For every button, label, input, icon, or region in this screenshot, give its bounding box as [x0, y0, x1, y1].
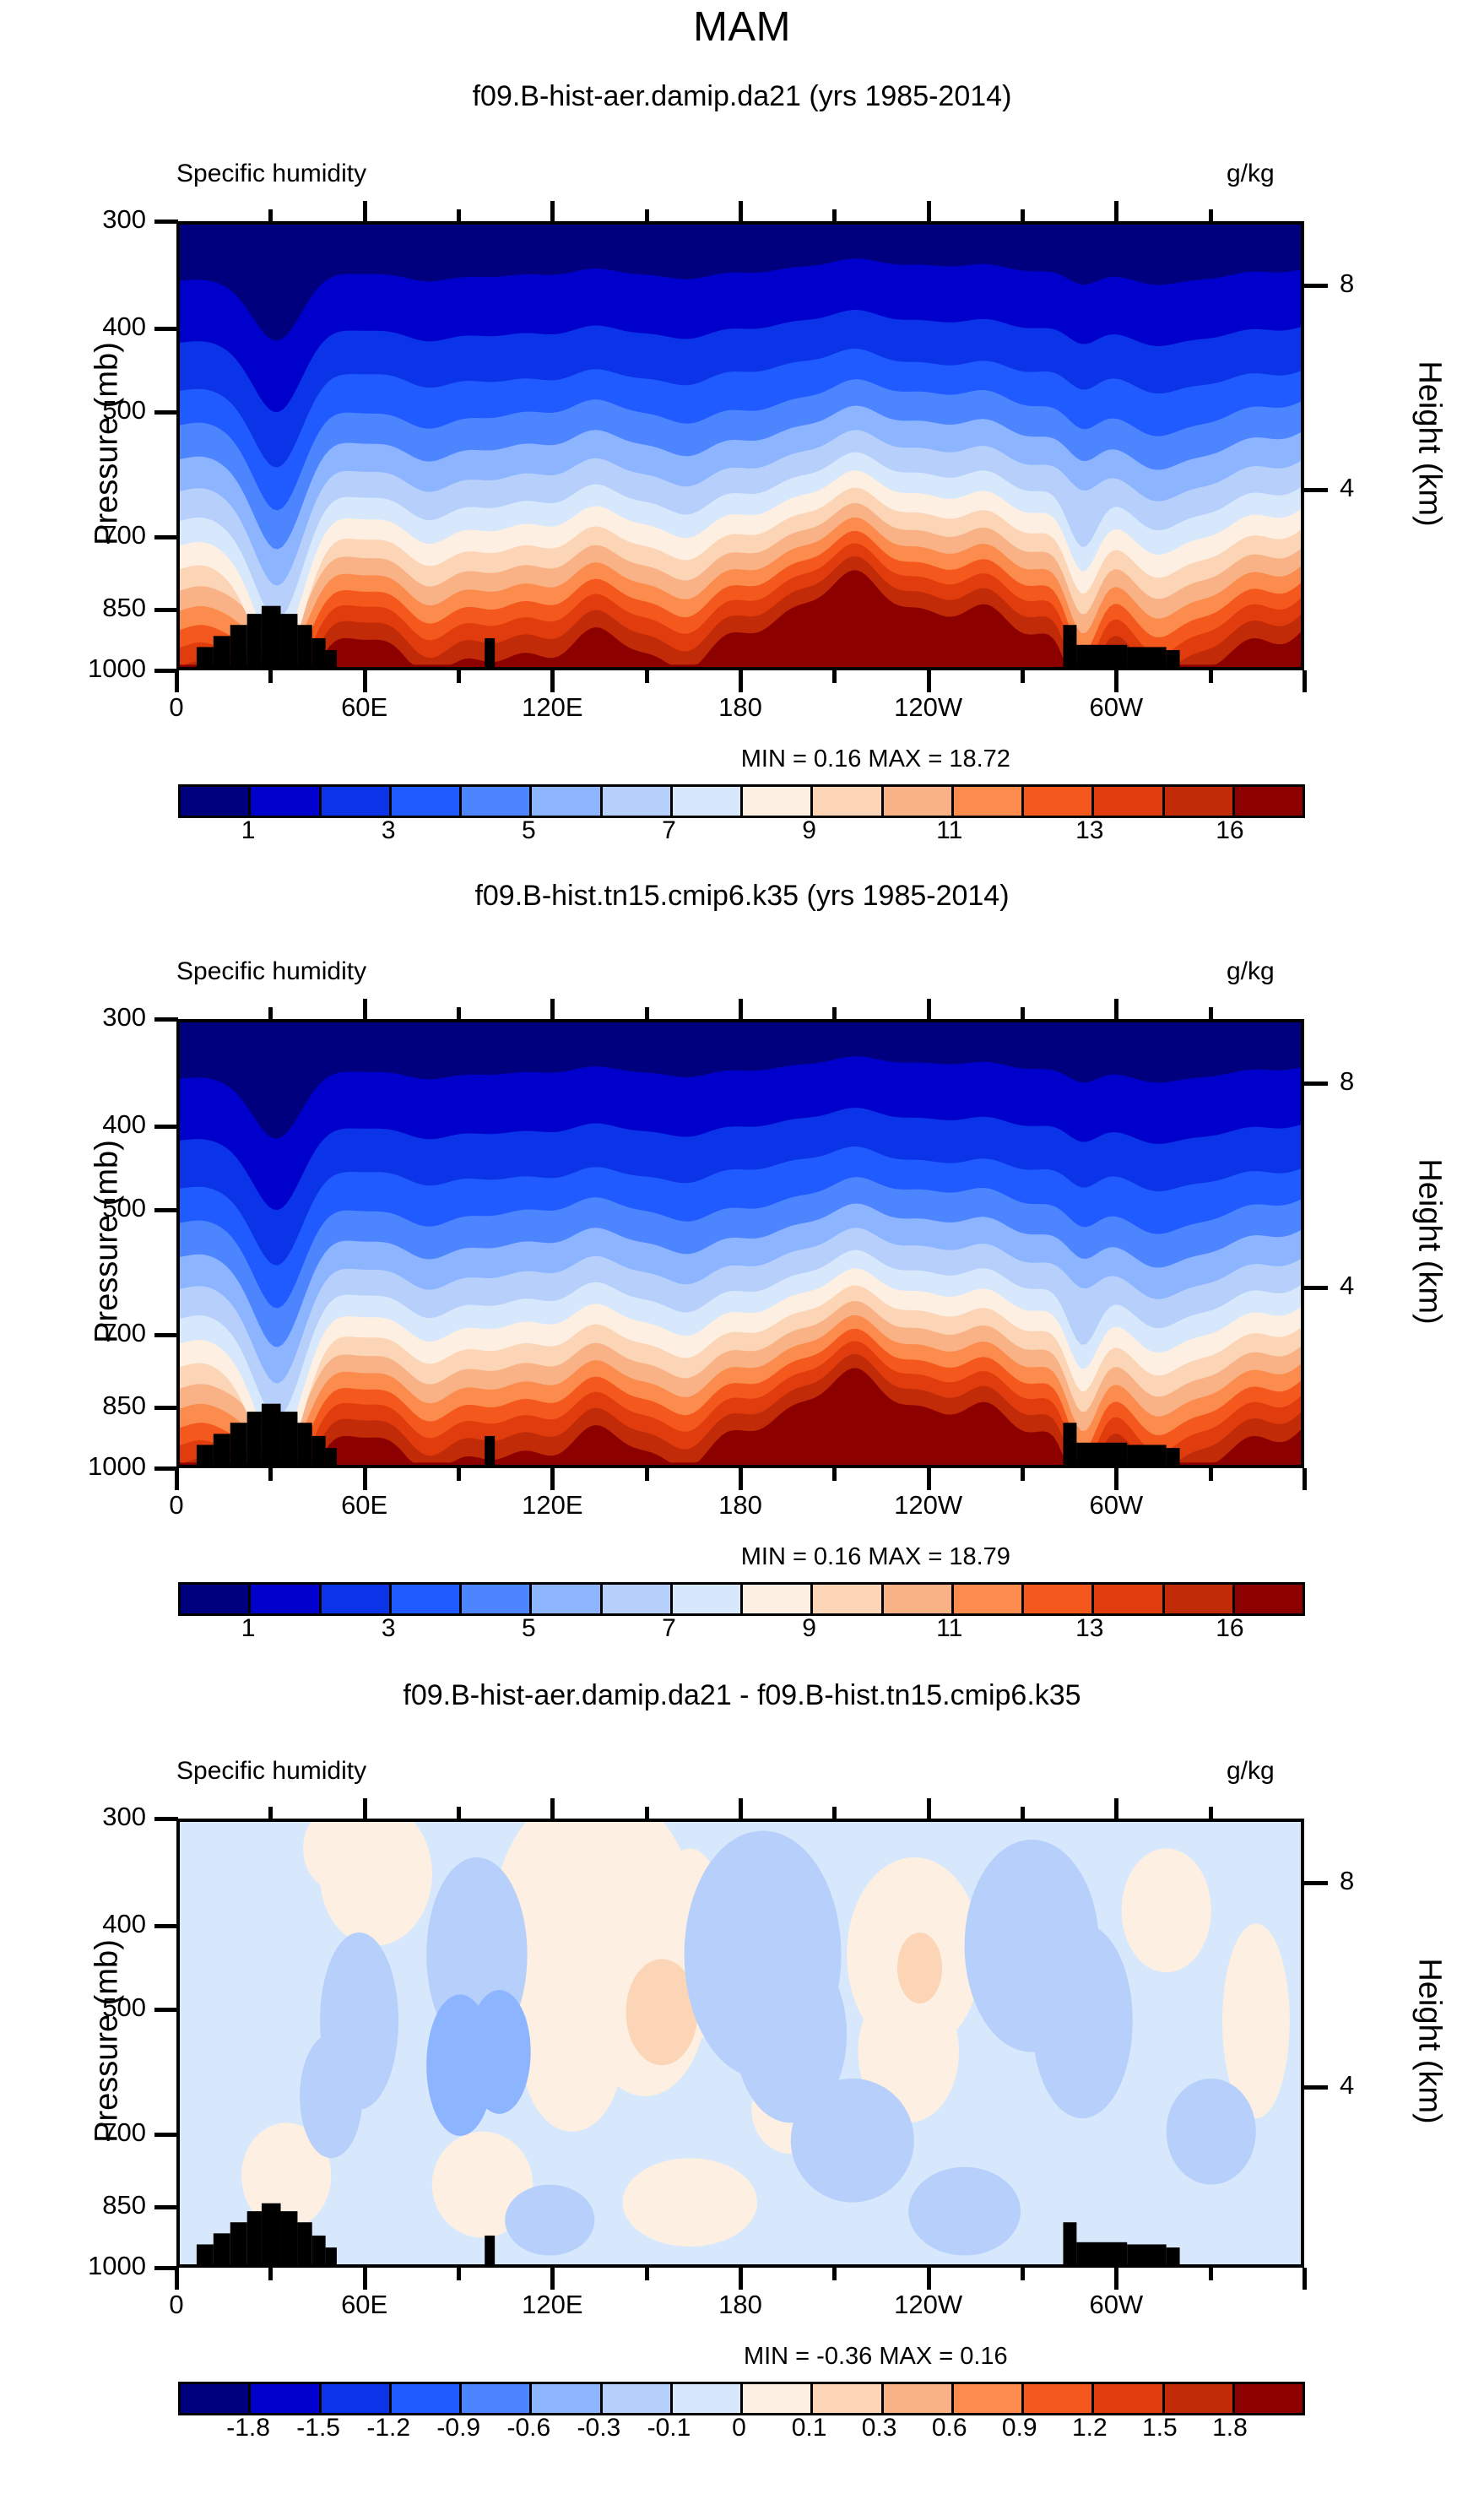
panel-diff-colorbar-label: 0 — [732, 2414, 746, 2442]
panel-diff-colorbar-label: -1.5 — [296, 2414, 340, 2442]
panel-diff-colorbar-label: -0.9 — [436, 2414, 480, 2442]
panel-middle-x-minor-tick — [1209, 1468, 1213, 1481]
panel-top-x-major-tick — [1114, 670, 1118, 692]
panel-top-colorbar-cell — [532, 787, 602, 816]
panel-top-y-tick — [154, 669, 178, 673]
panel-diff-contour-field — [180, 1822, 1301, 2264]
panel-top-colorbar-label: 16 — [1216, 816, 1243, 845]
panel-top-x-tick-label: 0 — [169, 692, 183, 723]
panel-top-colorbar-cell — [181, 787, 251, 816]
panel-middle-x-minor-tick-top — [1209, 1007, 1213, 1019]
panel-diff-colorbar-label: -1.2 — [366, 2414, 410, 2442]
panel-middle-x-minor-tick-top — [645, 1007, 649, 1019]
panel-middle-y-tick — [154, 1333, 178, 1337]
panel-middle-colorbar-cell — [954, 1585, 1024, 1613]
panel-top-minmax-text: MIN = 0.16 MAX = 18.72 — [741, 745, 1010, 773]
panel-diff-colorbar-label: -1.8 — [226, 2414, 270, 2442]
panel-diff-colorbar-label: 1.2 — [1072, 2414, 1108, 2442]
panel-diff-x-minor-tick-top — [1021, 1807, 1025, 1819]
panel-middle-colorbar-cell — [1094, 1585, 1164, 1613]
panel-top-y-axis-label: Pressure (mb) — [89, 169, 126, 719]
panel-diff-colorbar-cell — [322, 2384, 392, 2413]
panel-middle-y-tick — [154, 1406, 178, 1410]
panel-top: f09.B-hist-aer.damip.da21 (yrs 1985-2014… — [0, 0, 1484, 2510]
panel-middle-colorbar-label: 1 — [241, 1614, 256, 1643]
panel-diff: f09.B-hist-aer.damip.da21 - f09.B-hist.t… — [0, 0, 1484, 2510]
panel-top-x-major-tick — [739, 670, 743, 692]
panel-middle-plot-area — [176, 1019, 1304, 1468]
panel-middle: f09.B-hist.tn15.cmip6.k35 (yrs 1985-2014… — [0, 0, 1484, 2510]
panel-top-y-tick — [154, 410, 178, 415]
panel-middle-colorbar-cell — [462, 1585, 532, 1613]
panel-diff-colorbar-cell — [181, 2384, 251, 2413]
panel-diff-x-minor-tick-top — [268, 1807, 273, 1819]
panel-middle-colorbar-cell — [532, 1585, 602, 1613]
panel-middle-x-major-tick — [739, 1468, 743, 1490]
panel-diff-x-major-tick — [550, 2268, 555, 2290]
panel-top-x-minor-tick — [268, 670, 273, 683]
panel-middle-x-major-tick-top — [1114, 999, 1118, 1019]
panel-diff-colorbar-cell — [392, 2384, 462, 2413]
panel-diff-colorbar-label: 0.9 — [1002, 2414, 1037, 2442]
panel-top-x-tick-label: 180 — [718, 692, 762, 723]
panel-top-colorbar-cell — [1165, 787, 1235, 816]
panel-diff-plot-area — [176, 1819, 1304, 2268]
panel-middle-colorbar-cell — [884, 1585, 954, 1613]
panel-middle-y-tick-label: 1000 — [8, 1451, 146, 1482]
panel-diff-y-tick-label: 700 — [8, 2117, 146, 2148]
panel-top-y-tick-label: 400 — [8, 312, 146, 342]
panel-diff-y-right-tick-label: 4 — [1340, 2070, 1354, 2101]
panel-middle-y-right-tick — [1304, 1082, 1328, 1086]
panel-middle-minmax-text: MIN = 0.16 MAX = 18.79 — [741, 1543, 1010, 1571]
panel-middle-x-minor-tick — [832, 1468, 837, 1481]
panel-middle-contour-field — [180, 1022, 1301, 1465]
panel-top-x-minor-tick — [1021, 670, 1025, 683]
panel-top-colorbar-cell — [1235, 787, 1303, 816]
panel-top-x-minor-tick — [1209, 670, 1213, 683]
panel-diff-colorbar-cell — [1235, 2384, 1303, 2413]
panel-top-colorbar-cell — [322, 787, 392, 816]
panel-top-y-tick-label: 850 — [8, 593, 146, 623]
panel-top-y-right-tick — [1304, 284, 1328, 288]
panel-top-colorbar-cell — [673, 787, 743, 816]
panel-diff-colorbar-label: 1.5 — [1142, 2414, 1178, 2442]
panel-diff-x-major-tick — [927, 2268, 931, 2290]
panel-middle-colorbar-cell — [1235, 1585, 1303, 1613]
panel-diff-title: f09.B-hist-aer.damip.da21 - f09.B-hist.t… — [0, 1679, 1484, 1712]
panel-diff-colorbar — [178, 2382, 1305, 2415]
panel-top-y-tick — [154, 535, 178, 539]
panel-middle-x-major-tick — [550, 1468, 555, 1490]
panel-middle-x-major-tick-top — [550, 999, 555, 1019]
panel-top-y-tick-label: 700 — [8, 520, 146, 550]
panel-diff-x-major-tick-top — [550, 1798, 555, 1819]
panel-top-colorbar-cell — [813, 787, 883, 816]
panel-middle-y-right-tick — [1304, 1286, 1328, 1290]
panel-middle-colorbar-label: 13 — [1075, 1614, 1103, 1643]
panel-diff-colorbar-label: -0.1 — [647, 2414, 691, 2442]
panel-top-x-minor-tick-top — [1209, 209, 1213, 221]
panel-middle-colorbar-label: 5 — [522, 1614, 536, 1643]
panel-middle-y-tick-label: 500 — [8, 1193, 146, 1223]
panel-diff-colorbar-cell — [673, 2384, 743, 2413]
panel-top-y-tick-label: 1000 — [8, 653, 146, 684]
panel-diff-colorbar-cell — [1024, 2384, 1094, 2413]
panel-middle-y-tick — [154, 1208, 178, 1212]
panel-diff-x-minor-tick — [457, 2268, 461, 2280]
panel-top-y-right-tick-label: 8 — [1340, 268, 1354, 299]
panel-diff-y-tick — [154, 2205, 178, 2209]
panel-top-y-tick — [154, 327, 178, 331]
panel-middle-y-tick-label: 700 — [8, 1318, 146, 1348]
panel-diff-y-tick-label: 300 — [8, 1802, 146, 1832]
panel-middle-y-right-tick-label: 8 — [1340, 1066, 1354, 1097]
panel-diff-x-major-tick — [363, 2268, 367, 2290]
panel-middle-y-right-tick-label: 4 — [1340, 1271, 1354, 1301]
panel-top-colorbar-cell — [251, 787, 321, 816]
panel-middle-colorbar-label: 16 — [1216, 1614, 1243, 1643]
figure-page: MAMf09.B-hist-aer.damip.da21 (yrs 1985-2… — [0, 0, 1484, 2510]
panel-top-y-right-tick — [1304, 488, 1328, 492]
panel-diff-y-axis-label: Pressure (mb) — [89, 1766, 126, 2317]
panel-middle-colorbar-label: 3 — [382, 1614, 396, 1643]
panel-diff-x-major-tick — [739, 2268, 743, 2290]
panel-diff-x-major-tick — [1303, 2268, 1307, 2290]
panel-middle-x-major-tick — [1303, 1468, 1307, 1490]
panel-middle-colorbar-cell — [813, 1585, 883, 1613]
panel-middle-colorbar-cell — [1165, 1585, 1235, 1613]
panel-diff-x-major-tick-top — [739, 1798, 743, 1819]
panel-diff-y-tick — [154, 1817, 178, 1821]
panel-diff-y-tick-label: 1000 — [8, 2251, 146, 2281]
panel-middle-x-minor-tick-top — [832, 1007, 837, 1019]
panel-top-y-tick — [154, 220, 178, 224]
panel-top-colorbar-label: 5 — [522, 816, 536, 845]
panel-diff-colorbar-cell — [954, 2384, 1024, 2413]
panel-middle-x-minor-tick-top — [268, 1007, 273, 1019]
panel-middle-x-minor-tick — [268, 1468, 273, 1481]
panel-diff-x-tick-label: 120W — [894, 2290, 962, 2320]
panel-top-units-label: g/kg — [1227, 160, 1275, 188]
panel-top-x-minor-tick-top — [1021, 209, 1025, 221]
panel-top-colorbar-label: 7 — [662, 816, 676, 845]
panel-middle-colorbar-cell — [181, 1585, 251, 1613]
panel-diff-x-major-tick-top — [1114, 1798, 1118, 1819]
panel-diff-colorbar-cell — [1165, 2384, 1235, 2413]
panel-middle-x-tick-label: 60E — [341, 1490, 387, 1521]
panel-diff-x-minor-tick-top — [645, 1807, 649, 1819]
panel-diff-y-tick-label: 500 — [8, 1992, 146, 2023]
panel-top-colorbar — [178, 784, 1305, 818]
panel-middle-x-minor-tick — [457, 1468, 461, 1481]
panel-middle-y-tick-label: 850 — [8, 1391, 146, 1421]
panel-top-y-tick-label: 300 — [8, 204, 146, 235]
panel-top-x-major-tick-top — [927, 201, 931, 221]
panel-diff-x-minor-tick — [268, 2268, 273, 2280]
panel-diff-colorbar-cell — [813, 2384, 883, 2413]
panel-diff-x-major-tick — [1114, 2268, 1118, 2290]
panel-middle-x-minor-tick-top — [1021, 1007, 1025, 1019]
panel-middle-x-minor-tick-top — [457, 1007, 461, 1019]
panel-middle-x-tick-label: 120E — [522, 1490, 582, 1521]
page-title: MAM — [0, 3, 1484, 51]
panel-top-x-tick-label: 60E — [341, 692, 387, 723]
panel-diff-units-label: g/kg — [1227, 1757, 1275, 1786]
panel-middle-y-tick-label: 300 — [8, 1002, 146, 1033]
panel-top-colorbar-cell — [1094, 787, 1164, 816]
panel-top-colorbar-label: 11 — [936, 816, 962, 845]
panel-diff-y-tick — [154, 2008, 178, 2012]
panel-top-x-major-tick-top — [550, 201, 555, 221]
panel-diff-colorbar-cell — [743, 2384, 813, 2413]
panel-top-x-tick-label: 120W — [894, 692, 962, 723]
panel-middle-x-tick-label: 120W — [894, 1490, 962, 1521]
panel-middle-x-major-tick — [363, 1468, 367, 1490]
panel-middle-y-tick-label: 400 — [8, 1109, 146, 1140]
panel-diff-colorbar-label: 0.6 — [932, 2414, 967, 2442]
panel-middle-colorbar-cell — [392, 1585, 462, 1613]
panel-middle-x-tick-label: 60W — [1089, 1490, 1143, 1521]
panel-diff-x-tick-label: 120E — [522, 2290, 582, 2320]
panel-top-colorbar-label: 3 — [382, 816, 396, 845]
panel-top-x-tick-label: 60W — [1089, 692, 1143, 723]
panel-top-x-minor-tick-top — [832, 209, 837, 221]
panel-diff-colorbar-label: -0.6 — [506, 2414, 550, 2442]
panel-top-colorbar-cell — [954, 787, 1024, 816]
panel-diff-y-right-tick — [1304, 1881, 1328, 1885]
panel-diff-y-right-tick-label: 8 — [1340, 1866, 1354, 1896]
panel-diff-x-minor-tick-top — [832, 1807, 837, 1819]
panel-diff-x-minor-tick — [645, 2268, 649, 2280]
panel-diff-colorbar-cell — [251, 2384, 321, 2413]
panel-middle-x-tick-label: 0 — [169, 1490, 183, 1521]
panel-diff-variable-label: Specific humidity — [176, 1757, 366, 1786]
panel-diff-colorbar-label: -0.3 — [577, 2414, 621, 2442]
panel-middle-title: f09.B-hist.tn15.cmip6.k35 (yrs 1985-2014… — [0, 880, 1484, 913]
panel-diff-minmax-text: MIN = -0.36 MAX = 0.16 — [744, 2343, 1008, 2371]
panel-diff-colorbar-cell — [1094, 2384, 1164, 2413]
panel-top-plot-area — [176, 221, 1304, 670]
panel-top-x-major-tick — [363, 670, 367, 692]
panel-top-y-tick-label: 500 — [8, 395, 146, 426]
panel-middle-colorbar-label: 9 — [802, 1614, 816, 1643]
panel-diff-colorbar-cell — [462, 2384, 532, 2413]
panel-diff-colorbar-label: 1.8 — [1212, 2414, 1248, 2442]
panel-middle-colorbar-cell — [322, 1585, 392, 1613]
panel-top-x-major-tick — [175, 670, 179, 692]
panel-middle-x-major-tick — [175, 1468, 179, 1490]
panel-middle-y-axis-right-label: Height (km) — [1411, 967, 1448, 1517]
panel-top-x-minor-tick — [645, 670, 649, 683]
panel-middle-y-axis-label: Pressure (mb) — [89, 967, 126, 1517]
panel-middle-x-major-tick — [927, 1468, 931, 1490]
panel-diff-y-tick-label: 400 — [8, 1909, 146, 1939]
panel-top-x-minor-tick — [832, 670, 837, 683]
panel-middle-y-tick — [154, 1466, 178, 1471]
panel-middle-x-minor-tick — [645, 1468, 649, 1481]
panel-top-contour-field — [180, 225, 1301, 667]
panel-diff-colorbar-cell — [884, 2384, 954, 2413]
panel-top-y-right-tick-label: 4 — [1340, 473, 1354, 503]
panel-top-x-major-tick-top — [363, 201, 367, 221]
panel-top-colorbar-label: 13 — [1075, 816, 1103, 845]
panel-top-x-major-tick — [1303, 670, 1307, 692]
panel-diff-colorbar-label: 0.1 — [792, 2414, 827, 2442]
panel-middle-units-label: g/kg — [1227, 957, 1275, 986]
panel-middle-variable-label: Specific humidity — [176, 957, 366, 986]
panel-middle-colorbar-cell — [1024, 1585, 1094, 1613]
panel-middle-colorbar — [178, 1582, 1305, 1616]
panel-middle-x-major-tick — [1114, 1468, 1118, 1490]
panel-diff-x-major-tick-top — [927, 1798, 931, 1819]
panel-middle-x-minor-tick — [1021, 1468, 1025, 1481]
panel-top-colorbar-cell — [603, 787, 673, 816]
panel-diff-y-tick — [154, 1924, 178, 1928]
panel-middle-colorbar-cell — [251, 1585, 321, 1613]
panel-middle-x-major-tick-top — [363, 999, 367, 1019]
panel-diff-x-minor-tick — [1021, 2268, 1025, 2280]
panel-top-x-major-tick-top — [739, 201, 743, 221]
panel-diff-colorbar-label: 0.3 — [862, 2414, 897, 2442]
panel-diff-x-minor-tick — [832, 2268, 837, 2280]
panel-top-colorbar-cell — [462, 787, 532, 816]
panel-diff-x-minor-tick-top — [1209, 1807, 1213, 1819]
panel-top-x-tick-label: 120E — [522, 692, 582, 723]
panel-diff-y-tick — [154, 2266, 178, 2270]
panel-diff-y-right-tick — [1304, 2085, 1328, 2090]
panel-diff-x-tick-label: 180 — [718, 2290, 762, 2320]
panel-diff-colorbar-cell — [532, 2384, 602, 2413]
panel-middle-x-major-tick-top — [927, 999, 931, 1019]
panel-middle-y-tick — [154, 1017, 178, 1022]
panel-top-y-tick — [154, 608, 178, 612]
panel-top-x-major-tick — [927, 670, 931, 692]
panel-top-x-major-tick-top — [1114, 201, 1118, 221]
panel-top-colorbar-cell — [392, 787, 462, 816]
panel-diff-y-tick — [154, 2133, 178, 2137]
panel-diff-colorbar-cell — [603, 2384, 673, 2413]
panel-diff-x-major-tick — [175, 2268, 179, 2290]
panel-top-title: f09.B-hist-aer.damip.da21 (yrs 1985-2014… — [0, 80, 1484, 113]
panel-top-x-minor-tick — [457, 670, 461, 683]
panel-top-colorbar-cell — [1024, 787, 1094, 816]
panel-top-colorbar-label: 1 — [241, 816, 256, 845]
panel-middle-colorbar-cell — [603, 1585, 673, 1613]
panel-middle-colorbar-label: 7 — [662, 1614, 676, 1643]
panel-diff-y-axis-right-label: Height (km) — [1411, 1766, 1448, 2317]
panel-top-colorbar-cell — [884, 787, 954, 816]
panel-diff-x-tick-label: 60W — [1089, 2290, 1143, 2320]
panel-top-variable-label: Specific humidity — [176, 160, 366, 188]
panel-middle-x-major-tick-top — [739, 999, 743, 1019]
panel-diff-x-tick-label: 0 — [169, 2290, 183, 2320]
panel-diff-x-major-tick-top — [363, 1798, 367, 1819]
panel-middle-x-tick-label: 180 — [718, 1490, 762, 1521]
panel-top-colorbar-label: 9 — [802, 816, 816, 845]
panel-middle-colorbar-cell — [673, 1585, 743, 1613]
panel-top-x-major-tick — [550, 670, 555, 692]
panel-diff-x-minor-tick-top — [457, 1807, 461, 1819]
panel-middle-colorbar-label: 11 — [936, 1614, 962, 1643]
panel-top-colorbar-cell — [743, 787, 813, 816]
panel-middle-y-tick — [154, 1125, 178, 1129]
panel-top-y-axis-right-label: Height (km) — [1411, 169, 1448, 719]
panel-diff-x-tick-label: 60E — [341, 2290, 387, 2320]
panel-top-x-minor-tick-top — [268, 209, 273, 221]
panel-middle-colorbar-cell — [743, 1585, 813, 1613]
panel-diff-x-minor-tick — [1209, 2268, 1213, 2280]
panel-diff-y-tick-label: 850 — [8, 2190, 146, 2220]
panel-top-x-minor-tick-top — [457, 209, 461, 221]
panel-top-x-minor-tick-top — [645, 209, 649, 221]
